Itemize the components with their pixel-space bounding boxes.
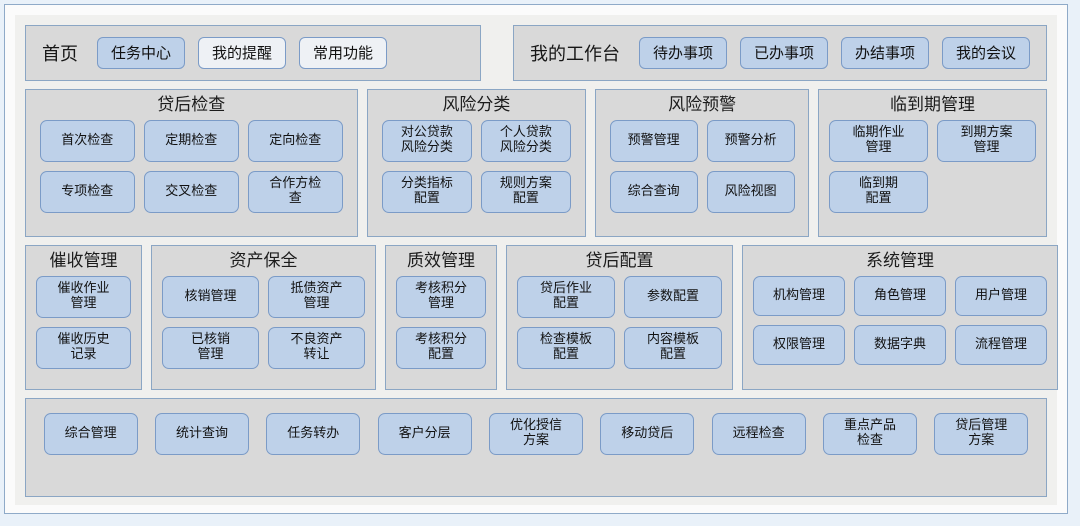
section-maturity-management: 临到期管理 临期作业 管理到期方案 管理临到期 配置	[818, 89, 1047, 237]
section-title: 贷后配置	[507, 246, 732, 276]
section-button-grid: 考核积分 管理考核积分 配置	[386, 276, 496, 369]
menu-button-考核积分-管理[interactable]: 考核积分 管理	[396, 276, 486, 318]
menu-button-个人贷款-风险分类[interactable]: 个人贷款 风险分类	[481, 120, 571, 162]
toolbar-button-已办事项[interactable]: 已办事项	[740, 37, 828, 69]
toolbar-button-办结事项[interactable]: 办结事项	[841, 37, 929, 69]
menu-button-风险视图[interactable]: 风险视图	[707, 171, 795, 213]
section-asset-preservation: 资产保全 核销管理抵债资产 管理已核销 管理不良资产 转让	[151, 245, 376, 390]
menu-button-到期方案-管理[interactable]: 到期方案 管理	[937, 120, 1036, 162]
dashboard-content: 首页任务中心我的提醒常用功能 我的工作台待办事项已办事项办结事项我的会议 贷后检…	[15, 15, 1057, 505]
menu-button-内容模板-配置[interactable]: 内容模板 配置	[624, 327, 722, 369]
menu-button-参数配置[interactable]: 参数配置	[624, 276, 722, 318]
section-title: 系统管理	[743, 246, 1057, 276]
section-quality-management: 质效管理 考核积分 管理考核积分 配置	[385, 245, 497, 390]
menu-button-临期作业-管理[interactable]: 临期作业 管理	[829, 120, 928, 162]
menu-button-催收作业-管理[interactable]: 催收作业 管理	[36, 276, 131, 318]
section-title: 风险预警	[596, 90, 808, 120]
section-button-grid: 贷后作业 配置参数配置检查模板 配置内容模板 配置	[507, 276, 732, 369]
quick-link-综合管理[interactable]: 综合管理	[44, 413, 138, 455]
section-button-grid: 机构管理角色管理用户管理权限管理数据字典流程管理	[743, 276, 1057, 365]
menu-button-用户管理[interactable]: 用户管理	[955, 276, 1047, 316]
menu-button-考核积分-配置[interactable]: 考核积分 配置	[396, 327, 486, 369]
workbench-toolbar: 我的工作台待办事项已办事项办结事项我的会议	[513, 25, 1047, 81]
toolbar-label-home: 首页	[42, 40, 78, 66]
quick-link-移动贷后[interactable]: 移动贷后	[600, 413, 694, 455]
section-button-grid: 临期作业 管理到期方案 管理临到期 配置	[819, 120, 1046, 213]
section-button-grid: 首次检查定期检查定向检查专项检查交叉检查合作方检 查	[26, 120, 357, 213]
section-title: 贷后检查	[26, 90, 357, 120]
section-risk-warning: 风险预警 预警管理预警分析综合查询风险视图	[595, 89, 809, 237]
section-title: 临到期管理	[819, 90, 1046, 120]
menu-button-不良资产-转让[interactable]: 不良资产 转让	[268, 327, 365, 369]
menu-button-机构管理[interactable]: 机构管理	[753, 276, 845, 316]
section-title: 质效管理	[386, 246, 496, 276]
section-collection-management: 催收管理 催收作业 管理催收历史 记录	[25, 245, 142, 390]
menu-button-综合查询[interactable]: 综合查询	[610, 171, 698, 213]
menu-button-首次检查[interactable]: 首次检查	[40, 120, 135, 162]
menu-button-流程管理[interactable]: 流程管理	[955, 325, 1047, 365]
section-button-grid: 预警管理预警分析综合查询风险视图	[596, 120, 808, 213]
section-row-3: 催收管理 催收作业 管理催收历史 记录 资产保全 核销管理抵债资产 管理已核销 …	[25, 245, 1047, 390]
menu-button-角色管理[interactable]: 角色管理	[854, 276, 946, 316]
section-loan-check: 贷后检查 首次检查定期检查定向检查专项检查交叉检查合作方检 查	[25, 89, 358, 237]
menu-button-交叉检查[interactable]: 交叉检查	[144, 171, 239, 213]
menu-button-催收历史-记录[interactable]: 催收历史 记录	[36, 327, 131, 369]
menu-button-抵债资产-管理[interactable]: 抵债资产 管理	[268, 276, 365, 318]
menu-button-预警分析[interactable]: 预警分析	[707, 120, 795, 162]
section-title: 资产保全	[152, 246, 375, 276]
toolbar-button-我的提醒[interactable]: 我的提醒	[198, 37, 286, 69]
menu-button-合作方检-查[interactable]: 合作方检 查	[248, 171, 343, 213]
menu-button-专项检查[interactable]: 专项检查	[40, 171, 135, 213]
toolbar-button-常用功能[interactable]: 常用功能	[299, 37, 387, 69]
quick-link-贷后管理-方案[interactable]: 贷后管理 方案	[934, 413, 1028, 455]
section-row-2: 贷后检查 首次检查定期检查定向检查专项检查交叉检查合作方检 查 风险分类 对公贷…	[25, 89, 1047, 237]
section-button-grid: 对公贷款 风险分类个人贷款 风险分类分类指标 配置规则方案 配置	[368, 120, 586, 213]
quick-link-统计查询[interactable]: 统计查询	[155, 413, 249, 455]
quick-link-客户分层[interactable]: 客户分层	[378, 413, 472, 455]
menu-button-临到期-配置[interactable]: 临到期 配置	[829, 171, 928, 213]
menu-button-定期检查[interactable]: 定期检查	[144, 120, 239, 162]
menu-button-贷后作业-配置[interactable]: 贷后作业 配置	[517, 276, 615, 318]
menu-button-数据字典[interactable]: 数据字典	[854, 325, 946, 365]
toolbar-button-任务中心[interactable]: 任务中心	[97, 37, 185, 69]
section-button-grid: 核销管理抵债资产 管理已核销 管理不良资产 转让	[152, 276, 375, 369]
application-frame: 首页任务中心我的提醒常用功能 我的工作台待办事项已办事项办结事项我的会议 贷后检…	[4, 4, 1068, 514]
menu-button-核销管理[interactable]: 核销管理	[162, 276, 259, 318]
toolbar-button-待办事项[interactable]: 待办事项	[639, 37, 727, 69]
home-toolbar: 首页任务中心我的提醒常用功能	[25, 25, 481, 81]
section-risk-classification: 风险分类 对公贷款 风险分类个人贷款 风险分类分类指标 配置规则方案 配置	[367, 89, 587, 237]
quick-link-重点产品-检查[interactable]: 重点产品 检查	[823, 413, 917, 455]
quick-link-远程检查[interactable]: 远程检查	[712, 413, 806, 455]
quick-link-优化授信-方案[interactable]: 优化授信 方案	[489, 413, 583, 455]
toolbar-button-我的会议[interactable]: 我的会议	[942, 37, 1030, 69]
menu-button-对公贷款-风险分类[interactable]: 对公贷款 风险分类	[382, 120, 472, 162]
section-post-loan-config: 贷后配置 贷后作业 配置参数配置检查模板 配置内容模板 配置	[506, 245, 733, 390]
section-system-management: 系统管理 机构管理角色管理用户管理权限管理数据字典流程管理	[742, 245, 1058, 390]
top-bar-row: 首页任务中心我的提醒常用功能 我的工作台待办事项已办事项办结事项我的会议	[25, 25, 1047, 81]
menu-button-规则方案-配置[interactable]: 规则方案 配置	[481, 171, 571, 213]
bottom-toolbar: 综合管理统计查询任务转办客户分层优化授信 方案移动贷后远程检查重点产品 检查贷后…	[25, 398, 1047, 497]
menu-button-已核销-管理[interactable]: 已核销 管理	[162, 327, 259, 369]
quick-link-任务转办[interactable]: 任务转办	[266, 413, 360, 455]
section-button-grid: 催收作业 管理催收历史 记录	[26, 276, 141, 369]
menu-button-分类指标-配置[interactable]: 分类指标 配置	[382, 171, 472, 213]
toolbar-label-workbench: 我的工作台	[530, 40, 620, 66]
menu-button-检查模板-配置[interactable]: 检查模板 配置	[517, 327, 615, 369]
menu-button-定向检查[interactable]: 定向检查	[248, 120, 343, 162]
section-title: 风险分类	[368, 90, 586, 120]
section-title: 催收管理	[26, 246, 141, 276]
menu-button-预警管理[interactable]: 预警管理	[610, 120, 698, 162]
menu-button-权限管理[interactable]: 权限管理	[753, 325, 845, 365]
